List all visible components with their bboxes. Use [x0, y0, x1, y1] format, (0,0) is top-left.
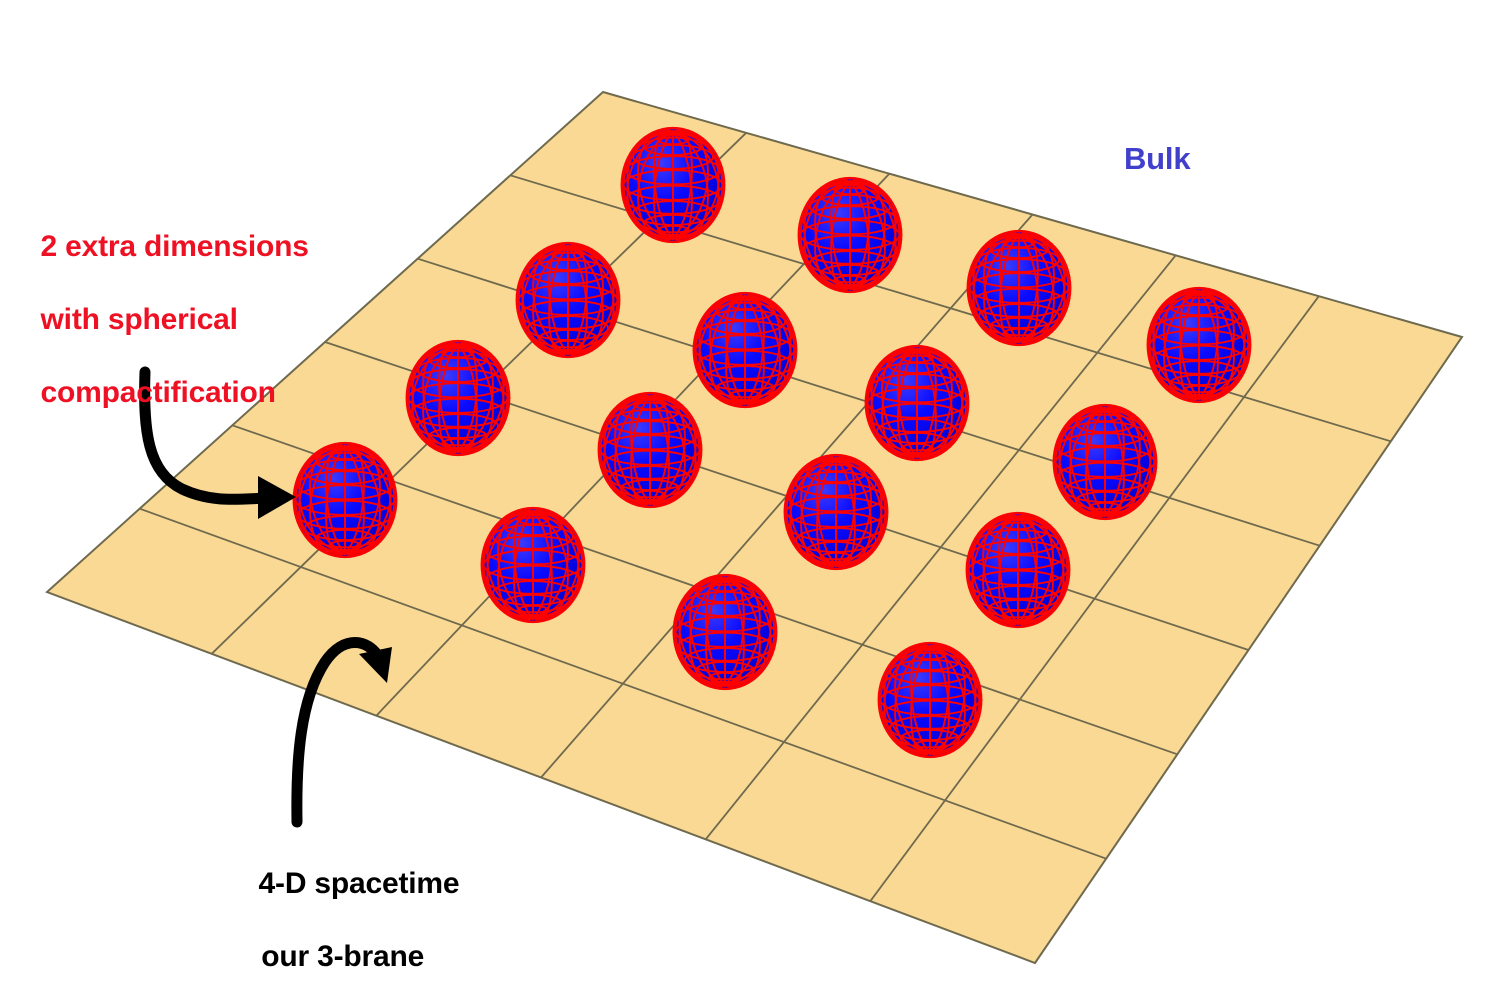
label-bulk: Bulk [1124, 140, 1190, 178]
sphere-wireframe [801, 180, 900, 290]
compactified-sphere [967, 230, 1072, 346]
label-extra-dimensions-line1: 2 extra dimensions [41, 230, 309, 263]
sphere-wireframe [409, 343, 508, 453]
compactified-sphere [798, 177, 903, 293]
compactified-sphere [966, 512, 1071, 628]
compactified-sphere [621, 127, 726, 243]
sphere-wireframe [601, 395, 700, 505]
sphere-wireframe [868, 348, 967, 458]
diagram-canvas: 2 extra dimensions with spherical compac… [0, 0, 1500, 989]
sphere-wireframe [1056, 407, 1155, 517]
label-brane-line2: our 3-brane [226, 939, 459, 976]
label-brane: 4-D spacetime our 3-brane [226, 829, 459, 989]
label-extra-dimensions-line3: compactification [41, 376, 276, 409]
sphere-wireframe [696, 295, 795, 405]
label-extra-dimensions-line2: with spherical [41, 303, 238, 336]
compactified-sphere [293, 442, 398, 558]
compactified-sphere [481, 507, 586, 623]
compactified-sphere [598, 392, 703, 508]
compactified-sphere [406, 340, 511, 456]
compactified-sphere [1053, 404, 1158, 520]
compactified-sphere [673, 574, 778, 690]
braneworld-scene [0, 0, 1500, 989]
sphere-wireframe [969, 515, 1068, 625]
sphere-wireframe [1150, 290, 1249, 400]
label-brane-line1: 4-D spacetime [259, 867, 460, 900]
compactified-sphere [878, 642, 983, 758]
compactified-sphere [865, 345, 970, 461]
compactified-sphere [784, 454, 889, 570]
sphere-wireframe [787, 457, 886, 567]
label-extra-dimensions: 2 extra dimensions with spherical compac… [8, 192, 309, 448]
sphere-wireframe [484, 510, 583, 620]
sphere-wireframe [676, 577, 775, 687]
compactified-sphere [1147, 287, 1252, 403]
sphere-wireframe [881, 645, 980, 755]
compactified-sphere [516, 242, 621, 358]
sphere-wireframe [519, 245, 618, 355]
sphere-wireframe [624, 130, 723, 240]
sphere-wireframe [296, 445, 395, 555]
compactified-sphere [693, 292, 798, 408]
sphere-wireframe [970, 233, 1069, 343]
